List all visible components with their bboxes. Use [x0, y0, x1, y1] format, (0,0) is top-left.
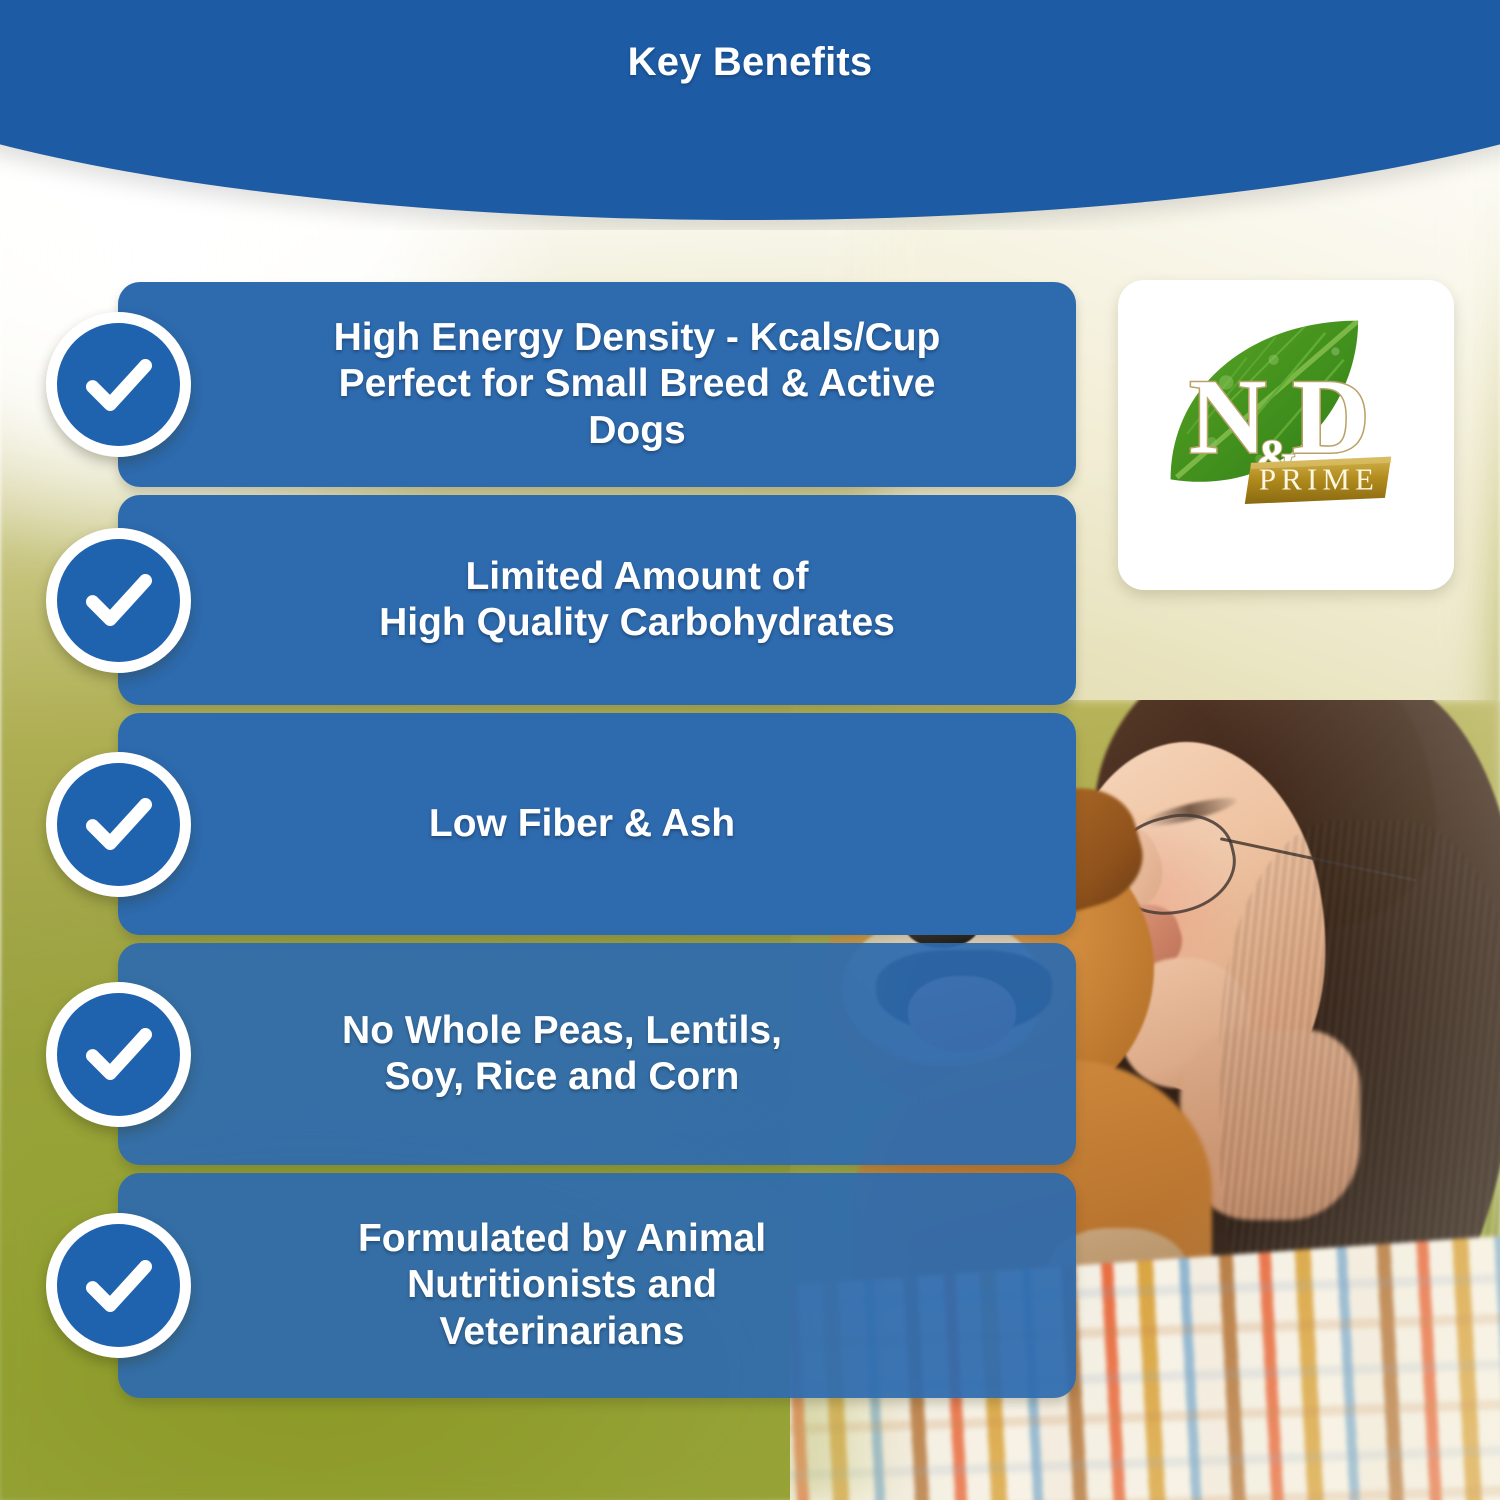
benefit-line-1: No Whole Peas, Lentils, — [342, 1009, 782, 1052]
benefit-line-1: Low Fiber & Ash — [429, 802, 735, 845]
check-circle-icon — [46, 752, 191, 897]
check-circle-icon — [46, 312, 191, 457]
benefit-line-3: Veterinarians — [440, 1310, 685, 1353]
benefit-line-2: High Quality Carbohydrates — [379, 601, 895, 644]
benefit-item-high-energy-density[interactable]: High Energy Density - Kcals/Cup Perfect … — [118, 282, 1076, 487]
nd-prime-logo: N & D PRIME — [1152, 306, 1420, 564]
prime-banner: PRIME — [1245, 457, 1391, 504]
benefit-line-2: Nutritionists and — [407, 1263, 717, 1306]
check-circle-icon — [46, 1213, 191, 1358]
header-curved-shape — [0, 0, 1500, 220]
benefit-item-no-fillers[interactable]: No Whole Peas, Lentils, Soy, Rice and Co… — [118, 943, 1076, 1165]
benefit-text: No Whole Peas, Lentils, Soy, Rice and Co… — [118, 1008, 1076, 1100]
benefit-text: High Energy Density - Kcals/Cup Perfect … — [118, 315, 1076, 453]
benefit-item-limited-carbohydrates[interactable]: Limited Amount of High Quality Carbohydr… — [118, 495, 1076, 705]
benefit-line-1: High Energy Density - Kcals/Cup — [334, 316, 941, 359]
key-benefits-infographic: Key Benefits High Energy Density - Kcals… — [0, 0, 1500, 1500]
nd-prime-logo-card: N & D PRIME — [1118, 280, 1454, 590]
check-circle-icon — [46, 528, 191, 673]
benefit-item-low-fiber-ash[interactable]: Low Fiber & Ash — [118, 713, 1076, 935]
benefit-text: Low Fiber & Ash — [118, 801, 1076, 847]
header-banner: Key Benefits — [0, 0, 1500, 230]
benefit-line-1-strong: Limited Amount — [465, 555, 760, 598]
benefit-line-2: Soy, Rice and Corn — [385, 1055, 740, 1098]
benefit-line-1: Formulated by Animal — [358, 1217, 766, 1260]
check-circle-icon — [46, 982, 191, 1127]
benefit-text: Formulated by Animal Nutritionists and V… — [118, 1216, 1076, 1354]
page-title: Key Benefits — [0, 40, 1500, 85]
benefit-item-formulated-by-experts[interactable]: Formulated by Animal Nutritionists and V… — [118, 1173, 1076, 1398]
benefits-list: High Energy Density - Kcals/Cup Perfect … — [118, 282, 1076, 1406]
prime-banner-text: PRIME — [1259, 462, 1379, 497]
benefit-line-2: Perfect for Small Breed & Active Dogs — [339, 362, 936, 451]
benefit-line-1-light: of — [761, 555, 809, 598]
benefit-text: Limited Amount of High Quality Carbohydr… — [118, 554, 1076, 646]
